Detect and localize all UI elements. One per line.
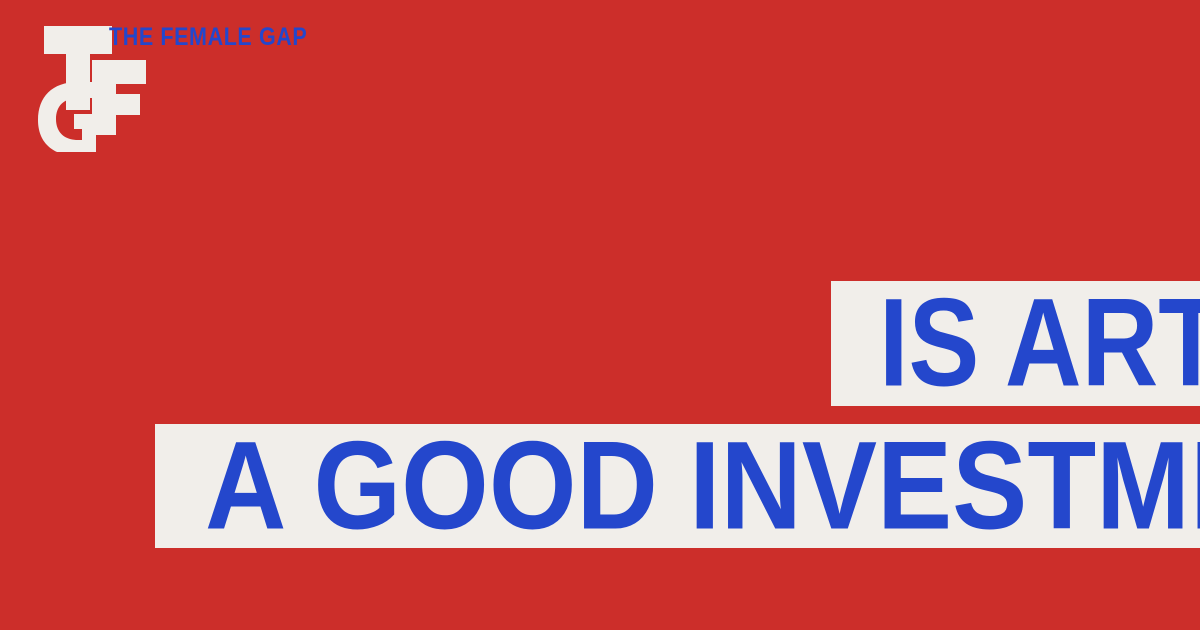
- headline-line1-text: IS ART: [879, 292, 1200, 395]
- headline-line2-text: A GOOD INVESTMENT?: [205, 435, 1200, 538]
- brand-lockup[interactable]: THE FEMALE GAP: [0, 0, 420, 170]
- brand-wordmark: THE FEMALE GAP: [109, 25, 307, 50]
- headline-band-line2: A GOOD INVESTMENT?: [155, 424, 1200, 548]
- headline-band-line1: IS ART: [831, 281, 1200, 406]
- social-share-poster: THE FEMALE GAP IS ART A GOOD INVESTMENT?: [0, 0, 1200, 630]
